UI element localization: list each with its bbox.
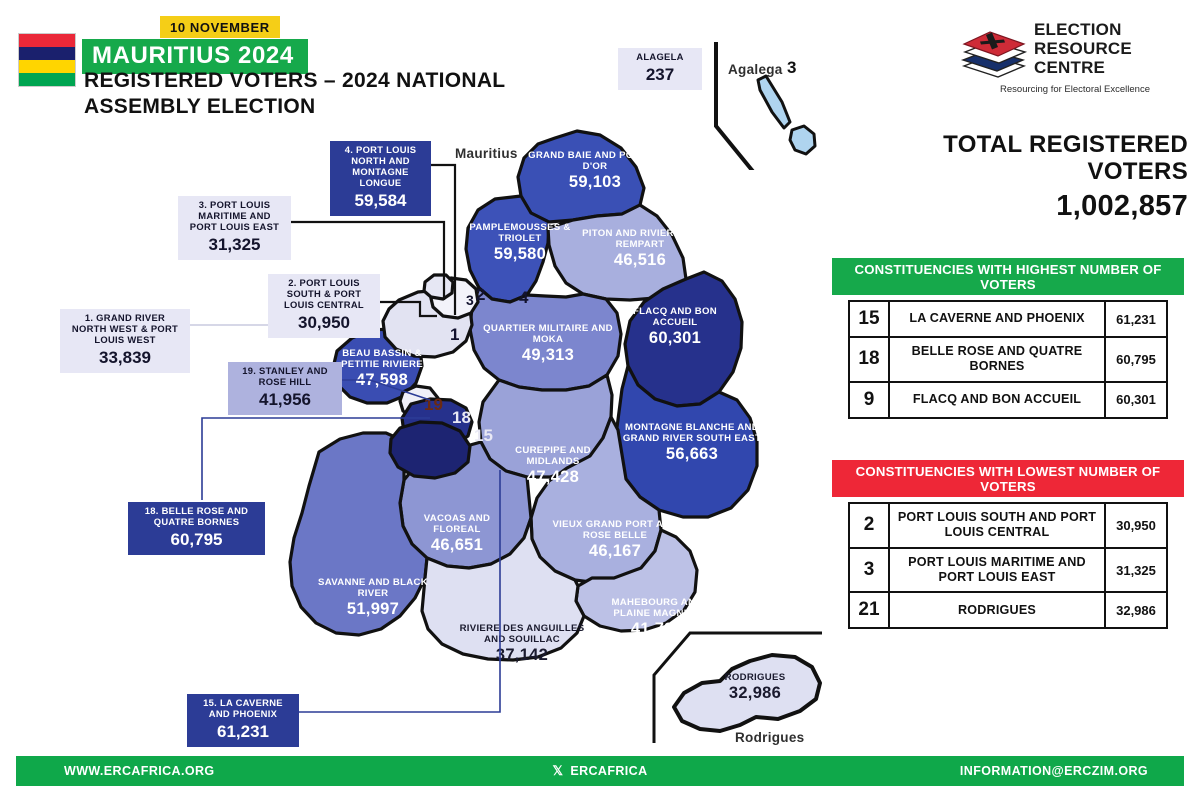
footer-bar: WWW.ERCAFRICA.ORG 𝕏 ERCAFRICA INFORMATIO…	[16, 756, 1184, 786]
constituency-name: FLACQ AND BON ACCUEIL	[889, 382, 1105, 418]
callout-port-louis-south-and-port-louis-central: 2. PORT LOUIS SOUTH & PORT LOUIS CENTRAL…	[268, 274, 380, 338]
logo-wordmark: ELECTION RESOURCE CENTRE	[1034, 20, 1132, 77]
connector-2	[380, 302, 437, 316]
stacked-books-icon	[960, 22, 1028, 80]
footer-email[interactable]: INFORMATION@ERCZIM.ORG	[960, 764, 1148, 778]
footer-social-handle: ERCAFRICA	[570, 764, 647, 778]
footer-social[interactable]: 𝕏 ERCAFRICA	[552, 763, 647, 779]
constituency-voters: 32,986	[1105, 592, 1167, 628]
constituency-name: PORT LOUIS MARITIME AND PORT LOUIS EAST	[889, 548, 1105, 593]
constituency-name: LA CAVERNE AND PHOENIX	[889, 301, 1105, 337]
highest-voters-table: CONSTITUENCIES WITH HIGHEST NUMBER OF VO…	[832, 258, 1184, 419]
organization-logo: ELECTION RESOURCE CENTRE Resourcing for …	[960, 22, 1190, 102]
table-row: 18 BELLE ROSE AND QUATRE BORNES 60,795	[849, 337, 1167, 382]
constituency-voters: 30,950	[1105, 503, 1167, 548]
logo-line-3: CENTRE	[1034, 58, 1132, 77]
constituency-name: PORT LOUIS SOUTH AND PORT LOUIS CENTRAL	[889, 503, 1105, 548]
constituency-name: BELLE ROSE AND QUATRE BORNES	[889, 337, 1105, 382]
callout-port-louis-maritime-and-port-louis-east: 3. PORT LOUIS MARITIME AND PORT LOUIS EA…	[178, 196, 291, 260]
logo-line-1: ELECTION	[1034, 20, 1132, 39]
total-value: 1,002,857	[900, 190, 1188, 223]
callout-port-louis-north-and-montagne-longue: 4. PORT LOUIS NORTH AND MONTAGNE LONGUE …	[330, 141, 431, 216]
connector-18	[202, 418, 430, 500]
highest-table: 15 LA CAVERNE AND PHOENIX 61,231 18 BELL…	[848, 300, 1168, 419]
logo-line-2: RESOURCE	[1034, 39, 1132, 58]
constituency-voters: 61,231	[1105, 301, 1167, 337]
lowest-table-heading: CONSTITUENCIES WITH LOWEST NUMBER OF VOT…	[832, 460, 1184, 497]
total-label-line-1: TOTAL REGISTERED	[900, 132, 1188, 159]
x-twitter-icon: 𝕏	[552, 763, 563, 779]
constituency-name: RODRIGUES	[889, 592, 1105, 628]
infographic-page: 10 NOVEMBER MAURITIUS 2024 REGISTERED VO…	[0, 0, 1200, 790]
lowest-voters-table: CONSTITUENCIES WITH LOWEST NUMBER OF VOT…	[832, 460, 1184, 629]
callout-grand-river-north-west-and-port-louis-west: 1. GRAND RIVER NORTH WEST & PORT LOUIS W…	[60, 309, 190, 373]
callout-alagela: ALAGELA 237	[618, 48, 702, 90]
table-row: 2 PORT LOUIS SOUTH AND PORT LOUIS CENTRA…	[849, 503, 1167, 548]
lowest-table: 2 PORT LOUIS SOUTH AND PORT LOUIS CENTRA…	[848, 502, 1168, 629]
total-registered-voters: TOTAL REGISTERED VOTERS 1,002,857	[900, 132, 1188, 223]
callout-belle-rose-and-quatre-bornes: 18. BELLE ROSE AND QUATRE BORNES 60,795	[128, 502, 265, 555]
connector-15	[276, 470, 500, 712]
highest-table-heading: CONSTITUENCIES WITH HIGHEST NUMBER OF VO…	[832, 258, 1184, 295]
logo-tagline: Resourcing for Electoral Excellence	[960, 84, 1190, 95]
table-row: 3 PORT LOUIS MARITIME AND PORT LOUIS EAS…	[849, 548, 1167, 593]
callout-connector-lines	[0, 0, 860, 755]
total-label-line-2: VOTERS	[900, 159, 1188, 186]
callout-la-caverne-and-phoenix: 15. LA CAVERNE AND PHOENIX 61,231	[187, 694, 299, 747]
table-row: 9 FLACQ AND BON ACCUEIL 60,301	[849, 382, 1167, 418]
table-row: 21 RODRIGUES 32,986	[849, 592, 1167, 628]
map-container: GRAND BAIE AND POUDRE D'OR 59,103 PAMPLE…	[0, 0, 860, 750]
constituency-voters: 31,325	[1105, 548, 1167, 593]
constituency-voters: 60,795	[1105, 337, 1167, 382]
callout-stanley-and-rose-hill: 19. STANLEY AND ROSE HILL 41,956	[228, 362, 342, 415]
table-row: 15 LA CAVERNE AND PHOENIX 61,231	[849, 301, 1167, 337]
connector-19	[342, 380, 430, 400]
constituency-voters: 60,301	[1105, 382, 1167, 418]
footer-website[interactable]: WWW.ERCAFRICA.ORG	[64, 764, 215, 778]
